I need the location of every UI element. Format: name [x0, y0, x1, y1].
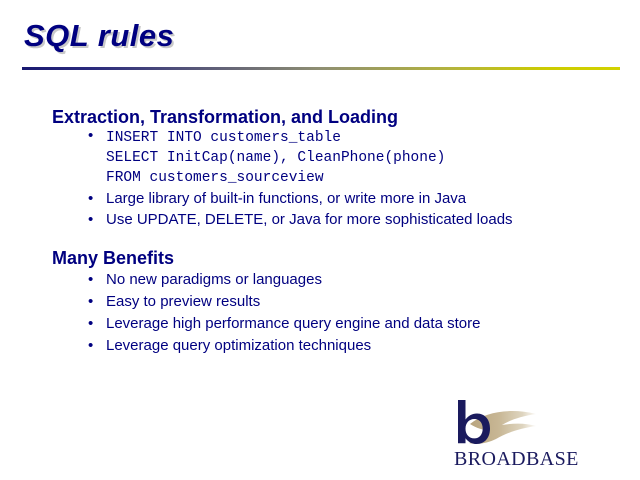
bullet-dot-icon: •	[88, 269, 93, 291]
sql-code-line-insert: INSERT INTO customers_table	[106, 128, 612, 148]
bullet-dot-icon: •	[88, 335, 93, 357]
bullet-dot-icon: •	[88, 188, 93, 209]
page-title: SQL rules	[24, 18, 174, 54]
list-item: • Easy to preview results	[52, 291, 612, 313]
section-extraction-transformation-loading: Extraction, Transformation, and Loading …	[52, 106, 612, 230]
list-item-label: Easy to preview results	[106, 293, 260, 310]
broadbase-b-swoosh-icon	[452, 398, 592, 454]
bullet-dot-icon: •	[88, 313, 93, 335]
sql-code-line-from: FROM customers_sourceview	[106, 168, 612, 188]
bullet-dot-icon: •	[88, 209, 93, 230]
list-item: • Large library of built-in functions, o…	[52, 188, 612, 209]
list-item: • No new paradigms or languages	[52, 269, 612, 291]
sql-code-line-select: SELECT InitCap(name), CleanPhone(phone)	[106, 148, 612, 168]
list-item-label: Large library of built-in functions, or …	[106, 190, 466, 207]
slide-canvas: SQL rules Extraction, Transformation, an…	[0, 0, 640, 480]
list-item: • Leverage high performance query engine…	[52, 313, 612, 335]
title-divider-rule	[22, 67, 620, 70]
section-heading-many-benefits: Many Benefits	[52, 247, 612, 269]
broadbase-wordmark: BROADBASE	[454, 448, 579, 471]
list-item-label: Leverage high performance query engine a…	[106, 315, 480, 332]
list-item-label: Leverage query optimization techniques	[106, 337, 371, 354]
broadbase-logo-mark	[452, 398, 592, 454]
broadbase-logo: BROADBASE	[452, 398, 592, 476]
etl-bullet-list: • INSERT INTO customers_table SELECT Ini…	[52, 128, 612, 230]
bullet-dot-icon: •	[88, 127, 93, 144]
list-item-label: No new paradigms or languages	[106, 271, 322, 288]
slide-body: Extraction, Transformation, and Loading …	[52, 106, 612, 357]
list-item-label: Use UPDATE, DELETE, or Java for more sop…	[106, 211, 513, 228]
section-many-benefits: Many Benefits • No new paradigms or lang…	[52, 247, 612, 357]
benefits-bullet-list: • No new paradigms or languages • Easy t…	[52, 269, 612, 357]
bullet-dot-icon: •	[88, 291, 93, 313]
list-item: • Use UPDATE, DELETE, or Java for more s…	[52, 209, 612, 230]
section-heading-etl: Extraction, Transformation, and Loading	[52, 106, 612, 128]
list-item: • Leverage query optimization techniques	[52, 335, 612, 357]
list-item-sql-code: • INSERT INTO customers_table SELECT Ini…	[52, 128, 612, 188]
